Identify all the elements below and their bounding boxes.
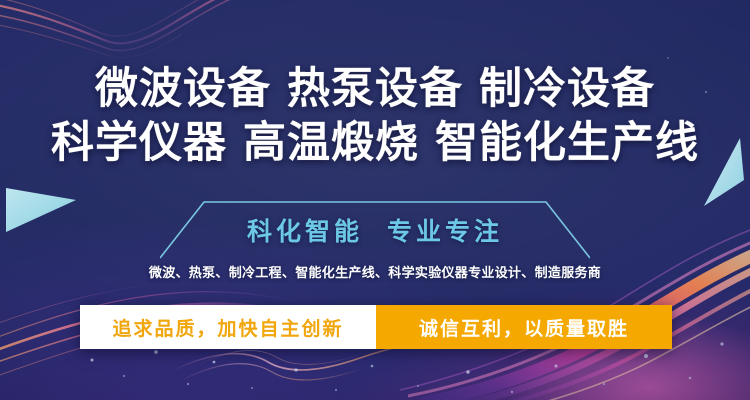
headline: 微波设备热泵设备制冷设备 科学仪器高温煅烧智能化生产线 [0,62,750,170]
subtitle-left: 科化智能 [247,218,363,246]
headline-item: 智能化生产线 [435,119,699,167]
slogan-badge-integrity[interactable]: 诚信互利，以质量取胜 [376,305,672,349]
headline-item: 高温煅烧 [243,119,419,167]
headline-line-2: 科学仪器高温煅烧智能化生产线 [0,116,750,170]
slogan-badges: 追求品质，加快自主创新 诚信互利，以质量取胜 [80,305,672,349]
headline-line-1: 微波设备热泵设备制冷设备 [0,62,750,116]
promo-banner: 微波设备热泵设备制冷设备 科学仪器高温煅烧智能化生产线 科化智能专业专注 微波、… [0,0,750,400]
headline-item: 微波设备 [95,65,271,113]
description-line: 微波、热泵、制冷工程、智能化生产线、科学实验仪器专业设计、制造服务商 [0,264,750,282]
headline-item: 科学仪器 [51,119,227,167]
headline-item: 热泵设备 [287,65,463,113]
headline-item: 制冷设备 [479,65,655,113]
slogan-badge-quality[interactable]: 追求品质，加快自主创新 [80,305,376,349]
subtitle-right: 专业专注 [387,218,503,246]
subtitle: 科化智能专业专注 [0,216,750,248]
